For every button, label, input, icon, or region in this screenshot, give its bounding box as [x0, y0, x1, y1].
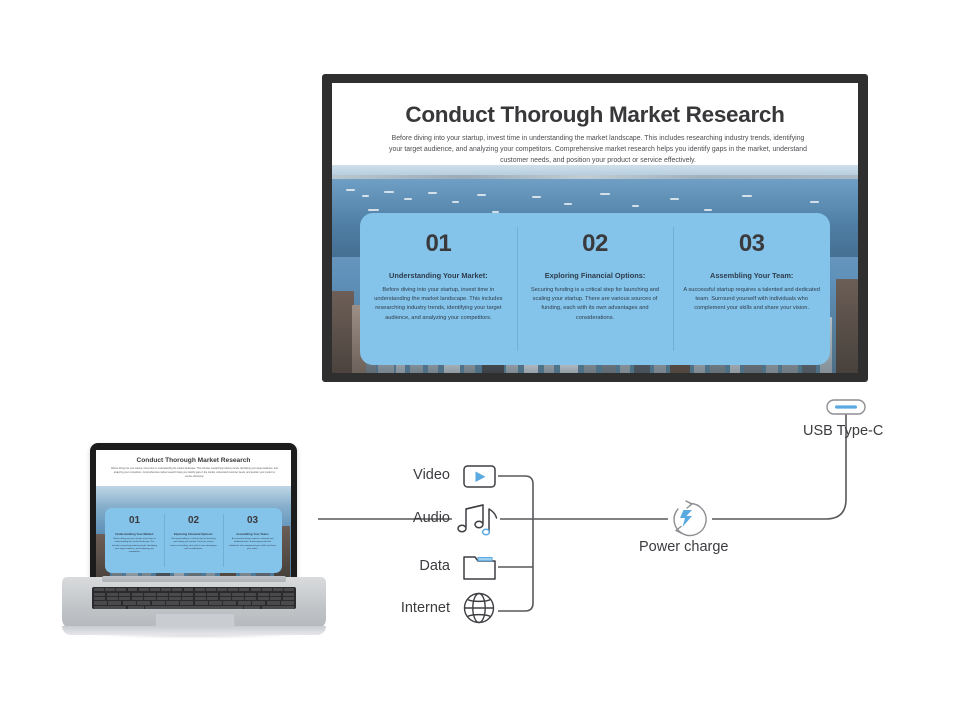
laptop-keyboard — [92, 587, 296, 609]
video-play-icon — [464, 466, 495, 487]
laptop-card-heading-3: Assembling Your Team: — [223, 532, 282, 536]
usb-type-c-label: USB Type-C — [803, 423, 883, 439]
card-number-1: 01 — [370, 232, 507, 256]
laptop-card-column-2: 02 Exploring Financial Options: Securing… — [164, 508, 223, 573]
card-heading-2: Exploring Financial Options: — [527, 271, 664, 280]
usb-type-c-icon — [827, 400, 865, 414]
card-text-3: A successful startup requires a talented… — [683, 286, 820, 314]
three-column-card: 01 Understanding Your Market: Before div… — [360, 213, 830, 365]
music-note-icon — [458, 505, 497, 535]
laptop-card-column-3: 03 Assembling Your Team: A successful st… — [223, 508, 282, 573]
signal-label-video: Video — [310, 467, 450, 483]
laptop-slide-title: Conduct Thorough Market Research — [96, 457, 291, 464]
card-heading-1: Understanding Your Market: — [370, 271, 507, 280]
laptop-card-number-2: 02 — [164, 516, 223, 526]
laptop-card-text-3: A successful startup requires a talented… — [223, 538, 282, 551]
laptop-base — [62, 577, 326, 629]
monitor-screen: Conduct Thorough Market Research Before … — [332, 83, 858, 373]
laptop-card-heading-1: Understanding Your Market: — [105, 532, 164, 536]
laptop-three-column-card: 01 Understanding Your Market: Before div… — [105, 508, 282, 573]
wire-video — [498, 476, 533, 484]
laptop-lid: Conduct Thorough Market Research Before … — [90, 443, 297, 589]
card-text-1: Before diving into your startup, invest … — [370, 286, 507, 323]
power-bolt-icon — [674, 501, 706, 535]
slide-title: Conduct Thorough Market Research — [332, 102, 858, 128]
slide-body: Before diving into your startup, invest … — [384, 133, 812, 167]
laptop-card-number-1: 01 — [105, 516, 164, 526]
card-column-1: 01 Understanding Your Market: Before div… — [360, 213, 517, 365]
card-heading-3: Assembling Your Team: — [683, 271, 820, 280]
laptop-hinge — [102, 576, 286, 582]
wire-internet — [498, 603, 533, 611]
laptop: Conduct Thorough Market Research Before … — [62, 443, 326, 637]
signal-label-data: Data — [310, 558, 450, 574]
slide: Conduct Thorough Market Research Before … — [332, 83, 858, 373]
laptop-slide-body: Before diving into your startup, invest … — [110, 468, 279, 479]
laptop-screen: Conduct Thorough Market Research Before … — [96, 450, 291, 580]
laptop-card-column-1: 01 Understanding Your Market: Before div… — [105, 508, 164, 573]
external-monitor: Conduct Thorough Market Research Before … — [322, 74, 868, 382]
card-column-3: 03 Assembling Your Team: A successful st… — [673, 213, 830, 365]
card-number-3: 03 — [683, 232, 820, 256]
card-column-2: 02 Exploring Financial Options: Securing… — [517, 213, 674, 365]
laptop-card-number-3: 03 — [223, 516, 282, 526]
laptop-trackpad — [155, 613, 235, 632]
scene: Conduct Thorough Market Research Before … — [0, 0, 960, 720]
card-number-2: 02 — [527, 232, 664, 256]
globe-icon — [465, 594, 494, 623]
laptop-card-text-1: Before diving into your startup, invest … — [105, 538, 164, 555]
laptop-card-heading-2: Exploring Financial Options: — [164, 532, 223, 536]
signal-label-internet: Internet — [310, 600, 450, 616]
card-text-2: Securing funding is a critical step for … — [527, 286, 664, 323]
power-charge-label: Power charge — [639, 539, 728, 555]
laptop-card-text-2: Securing funding is a critical step for … — [164, 538, 223, 551]
folder-icon — [464, 557, 495, 579]
signal-label-audio: Audio — [310, 510, 450, 526]
